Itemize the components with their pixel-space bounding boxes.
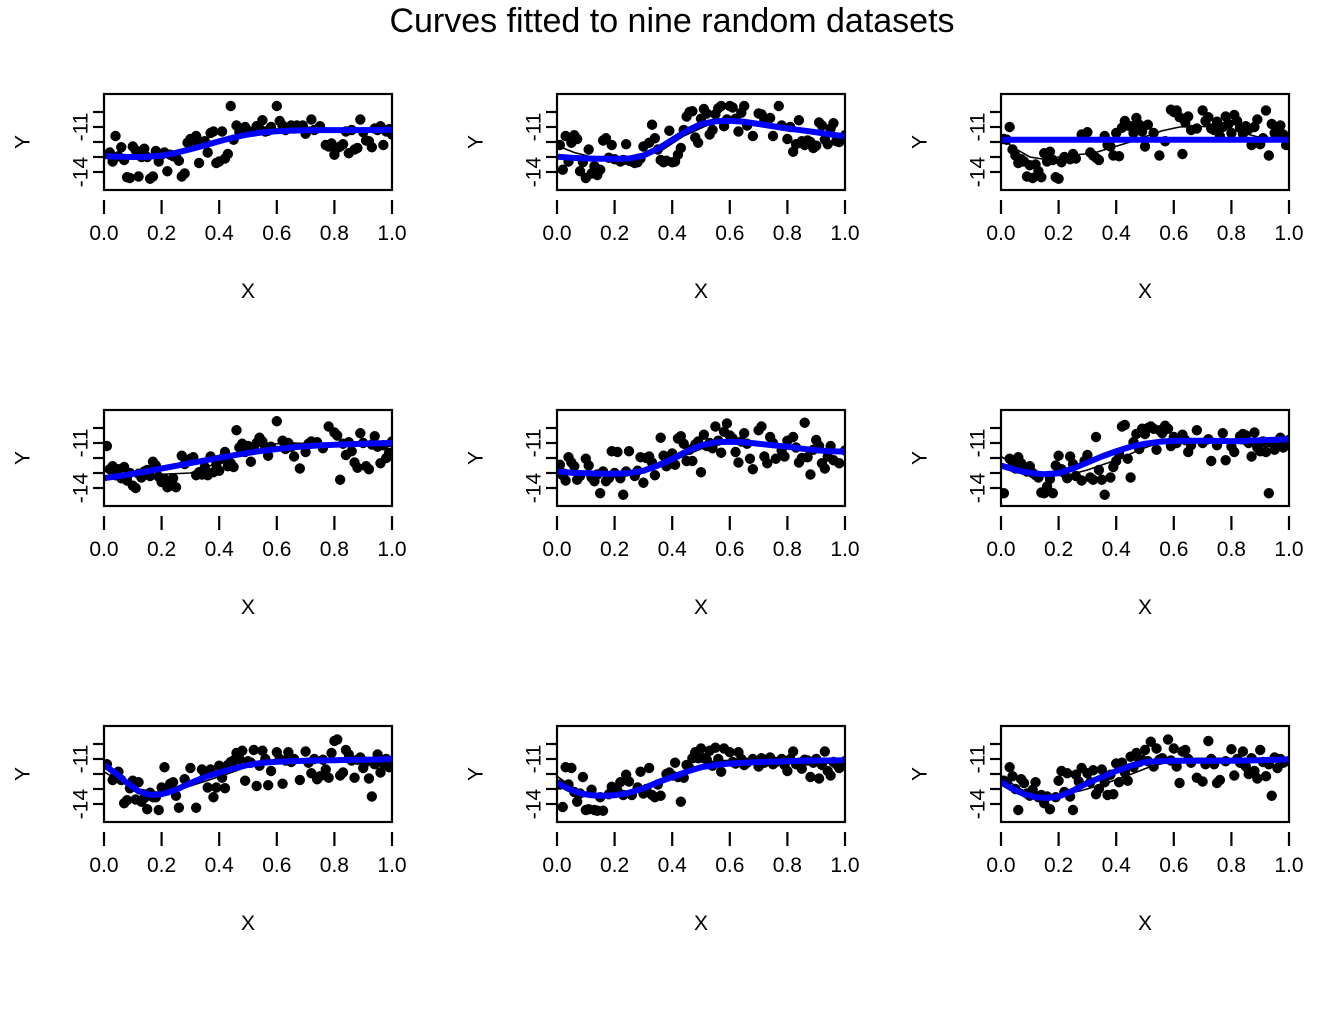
y-axis-title: Y xyxy=(12,451,35,465)
x-tick-label: 0.6 xyxy=(1159,222,1188,245)
x-tick-label: 0.6 xyxy=(262,222,291,245)
data-point xyxy=(148,171,158,181)
data-point xyxy=(1203,736,1213,746)
data-point xyxy=(607,140,617,150)
plot-area-5 xyxy=(555,418,851,500)
data-point xyxy=(355,114,365,124)
data-point xyxy=(716,448,726,458)
y-tick-label: -11 xyxy=(967,113,990,142)
data-point xyxy=(618,490,628,500)
x-tick-label: 0.4 xyxy=(205,222,235,245)
data-point xyxy=(745,454,755,464)
data-point xyxy=(1013,805,1023,815)
data-point xyxy=(583,460,593,470)
x-tick-label: 0.8 xyxy=(320,538,349,561)
data-point xyxy=(655,791,665,801)
x-axis-title: X xyxy=(241,912,255,935)
data-point xyxy=(159,762,169,772)
y-tick-label: -11 xyxy=(70,113,93,142)
y-tick-label: -14 xyxy=(523,789,546,820)
data-point xyxy=(560,475,570,485)
data-point xyxy=(1197,776,1207,786)
data-point xyxy=(566,763,576,773)
data-point xyxy=(231,425,241,435)
data-point xyxy=(768,131,778,141)
data-point xyxy=(277,779,287,789)
x-tick-label: 0.2 xyxy=(600,538,629,561)
x-tick-label: 0.4 xyxy=(658,538,688,561)
data-point xyxy=(375,767,385,777)
data-point xyxy=(251,781,261,791)
data-point xyxy=(364,464,374,474)
x-axis-title: X xyxy=(241,596,255,619)
data-point xyxy=(1004,122,1014,132)
data-point xyxy=(1099,490,1109,500)
y-tick-label: -14 xyxy=(523,473,546,504)
data-point xyxy=(162,166,172,176)
x-tick-label: 0.8 xyxy=(773,538,802,561)
y-axis-title: Y xyxy=(909,135,932,149)
x-tick-label: 0.8 xyxy=(320,854,349,877)
data-point xyxy=(820,463,830,473)
data-point xyxy=(1215,775,1225,785)
data-point xyxy=(834,458,844,468)
x-tick-label: 0.8 xyxy=(320,222,349,245)
data-point xyxy=(191,803,201,813)
data-point xyxy=(1120,420,1130,430)
data-point xyxy=(788,746,798,756)
data-point xyxy=(130,483,140,493)
data-point xyxy=(572,134,582,144)
page-title: Curves fitted to nine random datasets xyxy=(0,0,1344,42)
x-tick-label: 0.6 xyxy=(262,538,291,561)
data-point xyxy=(820,746,830,756)
x-tick-label: 0.6 xyxy=(715,222,744,245)
data-point xyxy=(1275,120,1285,130)
data-point xyxy=(352,143,362,153)
y-tick-label: -14 xyxy=(70,789,93,820)
x-tick-label: 0.6 xyxy=(262,854,291,877)
data-point xyxy=(722,418,732,428)
data-point xyxy=(272,101,282,111)
data-point xyxy=(266,766,276,776)
data-point xyxy=(174,156,184,166)
y-tick-label: -11 xyxy=(523,113,546,142)
x-tick-label: 1.0 xyxy=(830,854,859,877)
data-point xyxy=(687,456,697,466)
data-point xyxy=(142,804,152,814)
data-point xyxy=(171,482,181,492)
data-point xyxy=(1192,425,1202,435)
data-point xyxy=(779,451,789,461)
data-point xyxy=(116,142,126,152)
data-point xyxy=(1019,778,1029,788)
plot-area-9 xyxy=(999,734,1295,815)
x-tick-label: 0.0 xyxy=(542,538,571,561)
data-point xyxy=(1261,771,1271,781)
data-point xyxy=(202,147,212,157)
x-tick-label: 0.8 xyxy=(1217,538,1246,561)
x-tick-label: 0.2 xyxy=(1044,222,1073,245)
data-point xyxy=(1177,149,1187,159)
y-tick-label: -11 xyxy=(967,429,990,458)
data-point xyxy=(332,734,342,744)
data-point xyxy=(595,488,605,498)
data-point xyxy=(1246,451,1256,461)
data-point xyxy=(338,139,348,149)
x-tick-label: 1.0 xyxy=(1274,854,1303,877)
x-tick-label: 0.8 xyxy=(1217,854,1246,877)
x-axis-title: X xyxy=(694,280,708,303)
data-point xyxy=(1264,150,1274,160)
panel-4: -11-14Y0.00.20.40.60.81.0X xyxy=(0,378,440,694)
data-point xyxy=(676,143,686,153)
data-point xyxy=(1206,456,1216,466)
data-point xyxy=(696,467,706,477)
data-point xyxy=(1267,791,1277,801)
y-tick-label: -14 xyxy=(70,473,93,504)
x-tick-label: 0.8 xyxy=(773,222,802,245)
x-tick-label: 0.4 xyxy=(658,854,688,877)
x-tick-label: 0.8 xyxy=(773,854,802,877)
x-tick-label: 0.4 xyxy=(205,538,235,561)
data-point xyxy=(338,767,348,777)
data-point xyxy=(185,763,195,773)
data-point xyxy=(782,134,792,144)
panel-5: -11-14Y0.00.20.40.60.81.0X xyxy=(453,378,893,694)
data-point xyxy=(355,428,365,438)
data-point xyxy=(257,115,267,125)
x-tick-label: 0.6 xyxy=(715,538,744,561)
data-point xyxy=(208,792,218,802)
data-point xyxy=(367,142,377,152)
data-point xyxy=(300,746,310,756)
data-point xyxy=(664,126,674,136)
x-axis-title: X xyxy=(241,280,255,303)
x-tick-label: 0.2 xyxy=(147,854,176,877)
data-point xyxy=(1091,432,1101,442)
data-point xyxy=(220,783,230,793)
data-point xyxy=(1218,428,1228,438)
data-point xyxy=(598,806,608,816)
data-point xyxy=(323,773,333,783)
data-point xyxy=(1151,743,1161,753)
data-point xyxy=(558,802,568,812)
data-point xyxy=(676,797,686,807)
data-point xyxy=(799,418,809,428)
data-point xyxy=(733,126,743,136)
x-tick-label: 0.4 xyxy=(658,222,688,245)
data-point xyxy=(814,773,824,783)
x-tick-label: 0.0 xyxy=(89,854,118,877)
data-point xyxy=(1252,114,1262,124)
data-point xyxy=(655,433,665,443)
data-point xyxy=(774,101,784,111)
panel-9: -11-14Y0.00.20.40.60.81.0X xyxy=(897,694,1337,1010)
x-tick-label: 1.0 xyxy=(830,222,859,245)
data-point xyxy=(1045,804,1055,814)
data-point xyxy=(647,120,657,130)
x-tick-label: 0.0 xyxy=(89,538,118,561)
data-point xyxy=(110,131,120,141)
data-point xyxy=(1068,805,1078,815)
plot-area-1 xyxy=(104,101,397,184)
data-point xyxy=(1174,778,1184,788)
data-point xyxy=(1180,745,1190,755)
data-point xyxy=(748,131,758,141)
data-point xyxy=(1125,472,1135,482)
y-tick-label: -14 xyxy=(967,473,990,504)
x-tick-label: 0.6 xyxy=(1159,854,1188,877)
data-point xyxy=(1036,172,1046,182)
data-point xyxy=(644,763,654,773)
data-point xyxy=(794,115,804,125)
data-point xyxy=(624,776,634,786)
y-axis-title: Y xyxy=(465,451,488,465)
data-point xyxy=(263,780,273,790)
data-point xyxy=(1229,770,1239,780)
x-tick-label: 0.6 xyxy=(1159,538,1188,561)
x-axis-title: X xyxy=(1138,280,1152,303)
x-tick-label: 0.4 xyxy=(205,854,235,877)
y-tick-label: -14 xyxy=(967,789,990,820)
x-tick-label: 0.6 xyxy=(715,854,744,877)
plot-area-7 xyxy=(102,734,398,815)
y-axis-title: Y xyxy=(465,767,488,781)
x-tick-label: 0.4 xyxy=(1102,222,1132,245)
x-tick-label: 0.0 xyxy=(542,854,571,877)
x-tick-label: 0.0 xyxy=(89,222,118,245)
data-point xyxy=(788,432,798,442)
x-tick-label: 0.2 xyxy=(147,222,176,245)
plot-area-4 xyxy=(102,416,398,493)
x-axis-title: X xyxy=(1138,912,1152,935)
data-point xyxy=(1105,472,1115,482)
x-tick-label: 0.4 xyxy=(1102,854,1132,877)
y-tick-label: -11 xyxy=(967,745,990,774)
y-axis-title: Y xyxy=(12,135,35,149)
data-point xyxy=(223,149,233,159)
data-point xyxy=(346,446,356,456)
panel-8: -11-14Y0.00.20.40.60.81.0X xyxy=(453,694,893,1010)
data-point xyxy=(1154,150,1164,160)
plot-area-2 xyxy=(555,101,851,183)
x-tick-label: 0.2 xyxy=(1044,538,1073,561)
x-tick-label: 0.2 xyxy=(147,538,176,561)
plot-area-6 xyxy=(999,420,1295,500)
data-point xyxy=(710,421,720,431)
data-point xyxy=(1226,744,1236,754)
data-point xyxy=(595,165,605,175)
y-tick-label: -14 xyxy=(70,157,93,188)
data-point xyxy=(1151,445,1161,455)
data-point xyxy=(378,140,388,150)
y-tick-label: -14 xyxy=(967,157,990,188)
data-point xyxy=(716,767,726,777)
data-point xyxy=(217,126,227,136)
data-point xyxy=(811,141,821,151)
y-axis-title: Y xyxy=(465,135,488,149)
data-point xyxy=(583,144,593,154)
data-point xyxy=(272,416,282,426)
data-point xyxy=(756,421,766,431)
data-point xyxy=(1004,762,1014,772)
data-point xyxy=(1238,746,1248,756)
data-point xyxy=(638,478,648,488)
data-point xyxy=(687,106,697,116)
plot-area-3 xyxy=(999,105,1295,184)
data-point xyxy=(1053,776,1063,786)
data-point xyxy=(1030,777,1040,787)
data-point xyxy=(1094,155,1104,165)
data-point xyxy=(612,447,622,457)
data-point xyxy=(1082,127,1092,137)
x-tick-label: 0.2 xyxy=(600,222,629,245)
data-point xyxy=(727,102,737,112)
data-point xyxy=(295,463,305,473)
y-tick-label: -11 xyxy=(70,429,93,458)
x-tick-label: 1.0 xyxy=(377,538,406,561)
y-tick-label: -11 xyxy=(523,429,546,458)
data-point xyxy=(730,447,740,457)
data-point xyxy=(125,173,135,183)
x-axis-title: X xyxy=(694,912,708,935)
y-axis-title: Y xyxy=(909,451,932,465)
data-point xyxy=(168,777,178,787)
data-point xyxy=(739,101,749,111)
data-point xyxy=(1192,123,1202,133)
x-tick-label: 1.0 xyxy=(377,854,406,877)
data-point xyxy=(1062,768,1072,778)
x-tick-label: 0.0 xyxy=(986,538,1015,561)
x-tick-label: 0.0 xyxy=(542,222,571,245)
y-tick-label: -11 xyxy=(70,745,93,774)
data-point xyxy=(226,101,236,111)
y-tick-label: -11 xyxy=(523,745,546,774)
x-tick-label: 0.8 xyxy=(1217,222,1246,245)
x-tick-label: 1.0 xyxy=(830,538,859,561)
data-point xyxy=(805,772,815,782)
data-point xyxy=(578,772,588,782)
data-point xyxy=(693,138,703,148)
data-point xyxy=(650,470,660,480)
x-tick-label: 1.0 xyxy=(377,222,406,245)
data-point xyxy=(133,171,143,181)
data-point xyxy=(1255,745,1265,755)
data-point xyxy=(782,766,792,776)
data-point xyxy=(1163,734,1173,744)
data-point xyxy=(179,168,189,178)
data-point xyxy=(1108,789,1118,799)
x-tick-label: 0.2 xyxy=(1044,854,1073,877)
data-point xyxy=(228,462,238,472)
data-point xyxy=(194,158,204,168)
data-point xyxy=(364,773,374,783)
data-point xyxy=(174,803,184,813)
data-point xyxy=(765,113,775,123)
x-tick-label: 1.0 xyxy=(1274,222,1303,245)
data-point xyxy=(650,133,660,143)
data-point xyxy=(1183,111,1193,121)
data-point xyxy=(1261,105,1271,115)
y-axis-title: Y xyxy=(12,767,35,781)
plot-area-8 xyxy=(555,743,851,816)
data-point xyxy=(748,464,758,474)
data-point xyxy=(825,770,835,780)
data-point xyxy=(326,748,336,758)
data-point xyxy=(367,791,377,801)
data-point xyxy=(1053,174,1063,184)
panel-3: -11-14Y0.00.20.40.60.81.0X xyxy=(897,62,1337,378)
data-point xyxy=(306,114,316,124)
data-point xyxy=(1249,427,1259,437)
data-point xyxy=(828,118,838,128)
data-point xyxy=(707,125,717,135)
x-tick-label: 1.0 xyxy=(1274,538,1303,561)
data-point xyxy=(1053,451,1063,461)
panel-6: -11-14Y0.00.20.40.60.81.0X xyxy=(897,378,1337,694)
data-point xyxy=(624,446,634,456)
data-point xyxy=(295,775,305,785)
panel-2: -11-14Y0.00.20.40.60.81.0X xyxy=(453,62,893,378)
data-point xyxy=(670,758,680,768)
data-point xyxy=(805,469,815,479)
data-point xyxy=(1220,455,1230,465)
data-point xyxy=(154,805,164,815)
data-point xyxy=(733,457,743,467)
panel-1: -11-14Y0.00.20.40.60.81.0X xyxy=(0,62,440,378)
data-point xyxy=(1229,447,1239,457)
x-axis-title: X xyxy=(694,596,708,619)
panel-7: -11-14Y0.00.20.40.60.81.0X xyxy=(0,694,440,1010)
x-tick-label: 0.4 xyxy=(1102,538,1132,561)
data-point xyxy=(739,428,749,438)
data-point xyxy=(240,776,250,786)
y-axis-title: Y xyxy=(909,767,932,781)
y-tick-label: -14 xyxy=(523,157,546,188)
data-point xyxy=(289,451,299,461)
data-point xyxy=(1114,151,1124,161)
data-point xyxy=(1140,141,1150,151)
data-point xyxy=(1264,488,1274,498)
data-point xyxy=(1048,488,1058,498)
data-point xyxy=(335,475,345,485)
x-tick-label: 0.0 xyxy=(986,854,1015,877)
x-axis-title: X xyxy=(1138,596,1152,619)
x-tick-label: 0.0 xyxy=(986,222,1015,245)
data-point xyxy=(370,431,380,441)
plot-canvas: Curves fitted to nine random datasets -1… xyxy=(0,0,1344,960)
data-point xyxy=(246,457,256,467)
data-point xyxy=(349,773,359,783)
data-point xyxy=(352,463,362,473)
x-tick-label: 0.2 xyxy=(600,854,629,877)
data-point xyxy=(237,746,247,756)
data-point xyxy=(621,139,631,149)
